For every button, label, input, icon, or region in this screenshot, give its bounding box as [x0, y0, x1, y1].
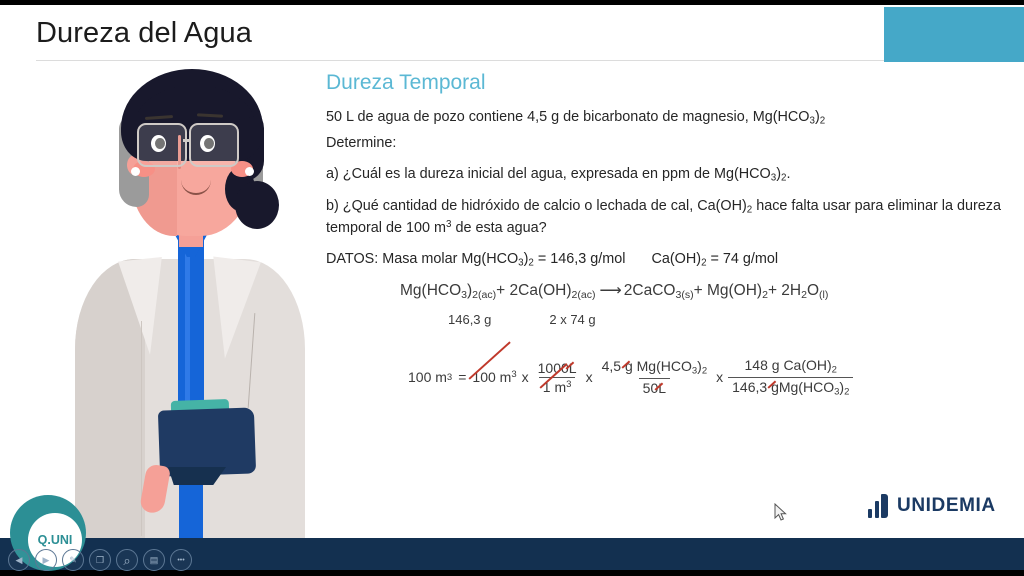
da-term-1: 100 m3 [472, 369, 516, 385]
question-a-text: a) ¿Cuál es la dureza inicial del agua, … [326, 166, 771, 182]
cf3-denominator: 146,3 gMg(HCO3)2 [728, 377, 853, 398]
hair-bun [235, 181, 279, 229]
cf2-denominator: 50L [639, 378, 670, 396]
chemical-equation: Mg(HCO3)2(ac)+ 2Ca(OH)2(ac)⟶2CaCO3(s)+ M… [400, 281, 920, 301]
equation-masses: 146,3 g2 x 74 g [448, 312, 596, 327]
header-accent-block [884, 7, 1024, 62]
cf1-den-value: 1 m [543, 379, 566, 395]
pen-icon[interactable]: ✎ [62, 549, 84, 571]
earring-left [131, 167, 140, 176]
cf2-num-unit: g [625, 358, 633, 374]
determine-label: Determine: [326, 133, 1002, 154]
glasses-lens-left [137, 123, 187, 167]
earring-right [245, 167, 254, 176]
data-line-molarmass-1: = 146,3 g/mol [534, 251, 626, 267]
data-line: DATOS: Masa molar Mg(HCO3)2 = 146,3 g/mo… [326, 249, 1002, 271]
glasses-lens-right [189, 123, 239, 167]
cf2-den-unit: L [658, 380, 666, 396]
reaction-arrow-icon: ⟶ [600, 281, 620, 300]
subscript: (l) [819, 289, 828, 301]
more-options-icon[interactable]: ••• [170, 549, 192, 571]
multiply-symbol: x [522, 369, 529, 385]
search-glyph: ⌕ [123, 554, 130, 567]
mass-reactant-1: 146,3 g [448, 312, 491, 327]
cf1-num-unit: L [569, 360, 577, 376]
question-b: b) ¿Qué cantidad de hidróxido de calcio … [326, 196, 1002, 239]
data-line-molarmass-2: = 74 g/mol [707, 251, 779, 267]
play-icon[interactable]: ▶ [35, 549, 57, 571]
da-equals: = [458, 369, 466, 385]
unidemia-logo-text: UNIDEMIA [897, 495, 996, 517]
subscript: 3(s) [675, 289, 693, 301]
subscript: 2 [832, 365, 837, 376]
cf2-numerator: 4,5 g Mg(HCO3)2 [598, 358, 712, 378]
dimensional-analysis: 100 m3 = 100 m3 x 1000L 1 m3 x 4,5 g Mg(… [408, 357, 853, 397]
question-b-end: de esta agua? [451, 220, 546, 236]
question-a-end: . [786, 166, 790, 182]
screen: Dureza del Agua [0, 0, 1024, 576]
unidemia-logo-icon [868, 494, 888, 518]
reactant-1: Mg(HCO [400, 282, 461, 299]
cf3-den-unit: g [771, 379, 779, 395]
top-letterbox-bar [0, 0, 1024, 5]
unidemia-logo: UNIDEMIA [868, 494, 996, 518]
instructor-illustration [75, 63, 310, 538]
cf3-den-species: Mg(HCO [779, 379, 834, 395]
player-toolbar[interactable]: ◀ ▶ ✎ ❐ ⌕ ▤ ••• [8, 549, 192, 571]
cf1-den-text: 1 m3 [543, 379, 572, 395]
cf3-den-value: 146,3 [732, 379, 767, 395]
da-lhs: 100 m [408, 369, 447, 385]
subscript: 2 [702, 366, 707, 377]
problem-statement-text: 50 L de agua de pozo contiene 4,5 g de b… [326, 109, 809, 125]
cf2-num-species: Mg(HCO [637, 358, 692, 374]
conversion-factor-2: 4,5 g Mg(HCO3)2 50L [598, 358, 712, 396]
search-icon[interactable]: ⌕ [116, 549, 138, 571]
data-line-pre-2: Ca(OH) [651, 251, 701, 267]
previous-icon[interactable]: ◀ [8, 549, 30, 571]
product-1: 2CaCO [624, 282, 676, 299]
cf3-num-text: 148 g Ca(OH) [745, 357, 832, 373]
product-3b: O [807, 282, 819, 299]
previous-glyph: ◀ [16, 556, 23, 565]
slide-canvas: Dureza del Agua [0, 5, 1024, 538]
header-divider [36, 60, 888, 61]
question-a: a) ¿Cuál es la dureza inicial del agua, … [326, 164, 1002, 186]
blue-shirt-highlight [185, 239, 190, 419]
question-b-text: b) ¿Qué cantidad de hidróxido de calcio … [326, 198, 747, 214]
superscript: 3 [447, 372, 452, 383]
pen-glyph: ✎ [69, 556, 77, 565]
superscript: 3 [566, 379, 571, 390]
cf1-denominator: 1 m3 [539, 377, 576, 395]
mouse-cursor-icon [774, 503, 787, 522]
superscript: 3 [511, 369, 516, 380]
conversion-factor-1: 1000L 1 m3 [534, 360, 581, 395]
multiply-symbol-2: x [586, 369, 593, 385]
mass-reactant-2: 2 x 74 g [549, 312, 595, 327]
data-line-pre: DATOS: Masa molar Mg(HCO [326, 251, 518, 267]
cf3-numerator: 148 g Ca(OH)2 [741, 357, 841, 377]
page-title: Dureza del Agua [36, 17, 252, 50]
subscript: 2 [844, 386, 849, 397]
product-2: + Mg(OH) [694, 282, 762, 299]
reactant-2: + 2Ca(OH) [496, 282, 571, 299]
notebook [158, 407, 256, 476]
problem-statement: 50 L de agua de pozo contiene 4,5 g de b… [326, 107, 1002, 129]
lesson-content: Dureza Temporal 50 L de agua de pozo con… [326, 71, 1002, 275]
play-glyph: ▶ [43, 556, 50, 565]
keyboard-icon[interactable]: ▤ [143, 549, 165, 571]
subscript: 2(ac) [472, 289, 496, 301]
subscript: 2(ac) [572, 289, 596, 301]
da-term-1-value: 100 m [472, 369, 511, 385]
keyboard-glyph: ▤ [150, 556, 159, 565]
product-3: + 2H [768, 282, 801, 299]
duplicate-icon[interactable]: ❐ [89, 549, 111, 571]
glasses-bridge [183, 139, 191, 142]
duplicate-glyph: ❐ [96, 556, 104, 565]
section-title: Dureza Temporal [326, 71, 1002, 95]
multiply-symbol-3: x [716, 369, 723, 385]
subscript: 2 [820, 116, 825, 127]
conversion-factor-3: 148 g Ca(OH)2 146,3 gMg(HCO3)2 [728, 357, 853, 397]
more-glyph: ••• [177, 557, 184, 564]
cf1-numerator: 1000L [534, 360, 581, 377]
cf2-num-value: 4,5 [602, 358, 621, 374]
